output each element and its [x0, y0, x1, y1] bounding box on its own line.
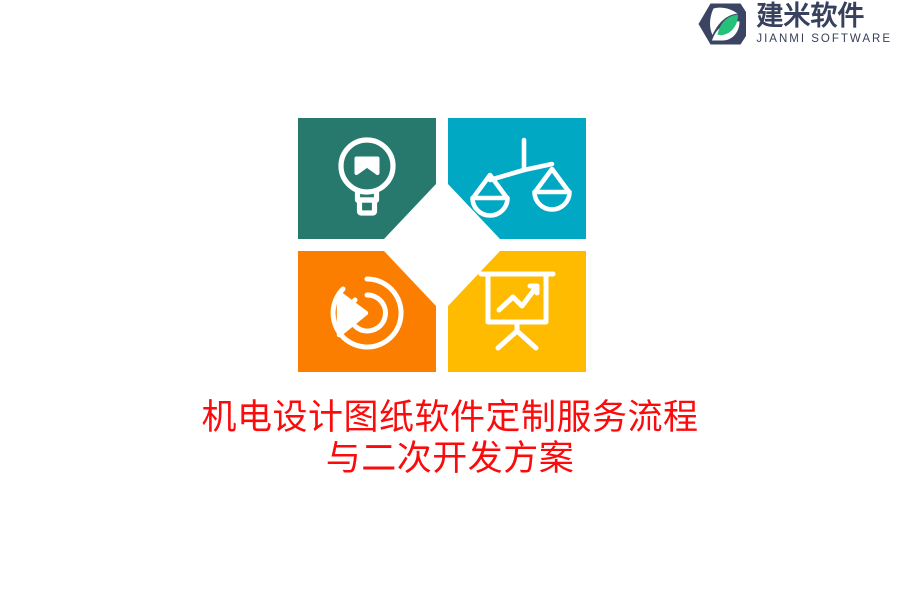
quadrant-cell-chart [448, 251, 586, 372]
quadrant-cell-lightbulb [298, 118, 436, 239]
quadrant-shape-teal [298, 118, 436, 239]
four-quadrant-pinwheel-graphic [298, 118, 586, 372]
brand-name-english: JIANMI SOFTWARE [756, 34, 892, 46]
quadrant-shape-amber [448, 251, 586, 372]
page-title-line-1: 机电设计图纸软件定制服务流程 [0, 398, 900, 439]
page-title-line-2: 与二次开发方案 [0, 439, 900, 480]
quadrant-shape-orange [298, 251, 436, 372]
brand-text-block: 建米软件 JIANMI SOFTWARE [756, 3, 892, 46]
quadrant-shape-cyan [448, 118, 586, 239]
quadrant-cell-scales [448, 118, 586, 239]
quadrant-cell-radar [298, 251, 436, 372]
brand-name-chinese: 建米软件 [756, 3, 892, 31]
page-title: 机电设计图纸软件定制服务流程 与二次开发方案 [0, 398, 900, 480]
brand-header: 建米软件 JIANMI SOFTWARE [696, 0, 892, 48]
jianmi-hexagon-leaf-logo-icon [696, 2, 748, 46]
